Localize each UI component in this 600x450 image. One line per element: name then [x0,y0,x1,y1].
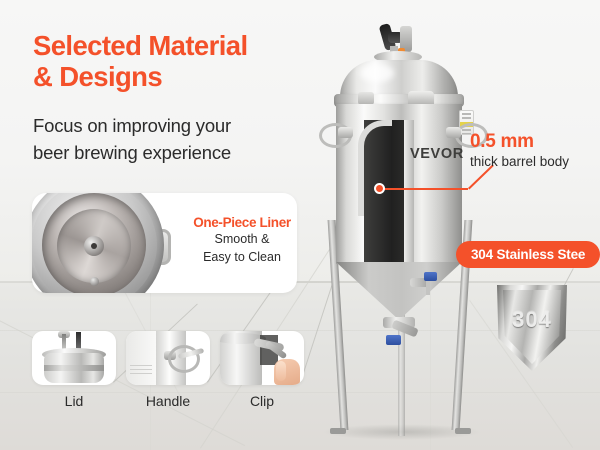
product-image-fermenter: VEVOR [312,24,492,434]
thumbnail-label-handle: Handle [126,393,210,409]
liner-desc-line-2: Easy to Clean [190,250,294,266]
page-subtitle: Focus on improving your beer brewing exp… [33,112,323,166]
brand-logo: VEVOR [410,146,464,162]
one-piece-liner-card: One-Piece Liner Smooth & Easy to Clean [32,193,297,293]
barrel-reflection [358,120,392,216]
liner-center-hole [91,243,97,249]
thickness-description: thick barrel body [470,154,569,169]
handle-texture [130,365,152,377]
valve-knob-blue-upper [424,272,437,281]
fermenter-foot [330,428,346,434]
liner-drain-nub [90,277,99,286]
thumbnail-label-lid: Lid [32,393,116,409]
side-handle-lug [338,127,353,138]
subheading-line-1: Focus on improving your [33,112,323,139]
thumbnail-label-clip: Clip [220,393,304,409]
thumbnail-lid[interactable] [32,331,116,385]
valve-knob-blue-lower [386,335,401,345]
thumbnail-clip[interactable] [220,331,304,385]
headline-line-1: Selected Material [33,30,333,61]
side-handle-lug [446,127,461,138]
lid-clamp-band [44,365,104,371]
shield-label: 304 [503,307,561,333]
hand-finger [276,361,286,381]
dome-highlight [360,64,394,82]
valve-stem [426,281,430,295]
liner-caption: One-Piece Liner Smooth & Easy to Clean [190,215,294,265]
liner-title: One-Piece Liner [190,215,294,230]
fermenter-foot [455,428,471,434]
product-feature-banner: Selected Material & Designs Focus on imp… [0,0,600,450]
callout-leader-line [380,188,468,190]
liner-desc-line-1: Smooth & [190,232,294,248]
thickness-value: 0.5 mm [470,131,534,153]
headline-line-2: & Designs [33,61,333,92]
material-badge: 304 Stainless Stee [456,241,600,268]
barrel-highlight-strip [404,120,414,262]
callout-anchor-dot [374,183,385,194]
liner-photo [32,193,180,293]
page-title: Selected Material & Designs [33,30,333,92]
thumbnail-handle[interactable] [126,331,210,385]
subheading-line-2: beer brewing experience [33,139,323,166]
